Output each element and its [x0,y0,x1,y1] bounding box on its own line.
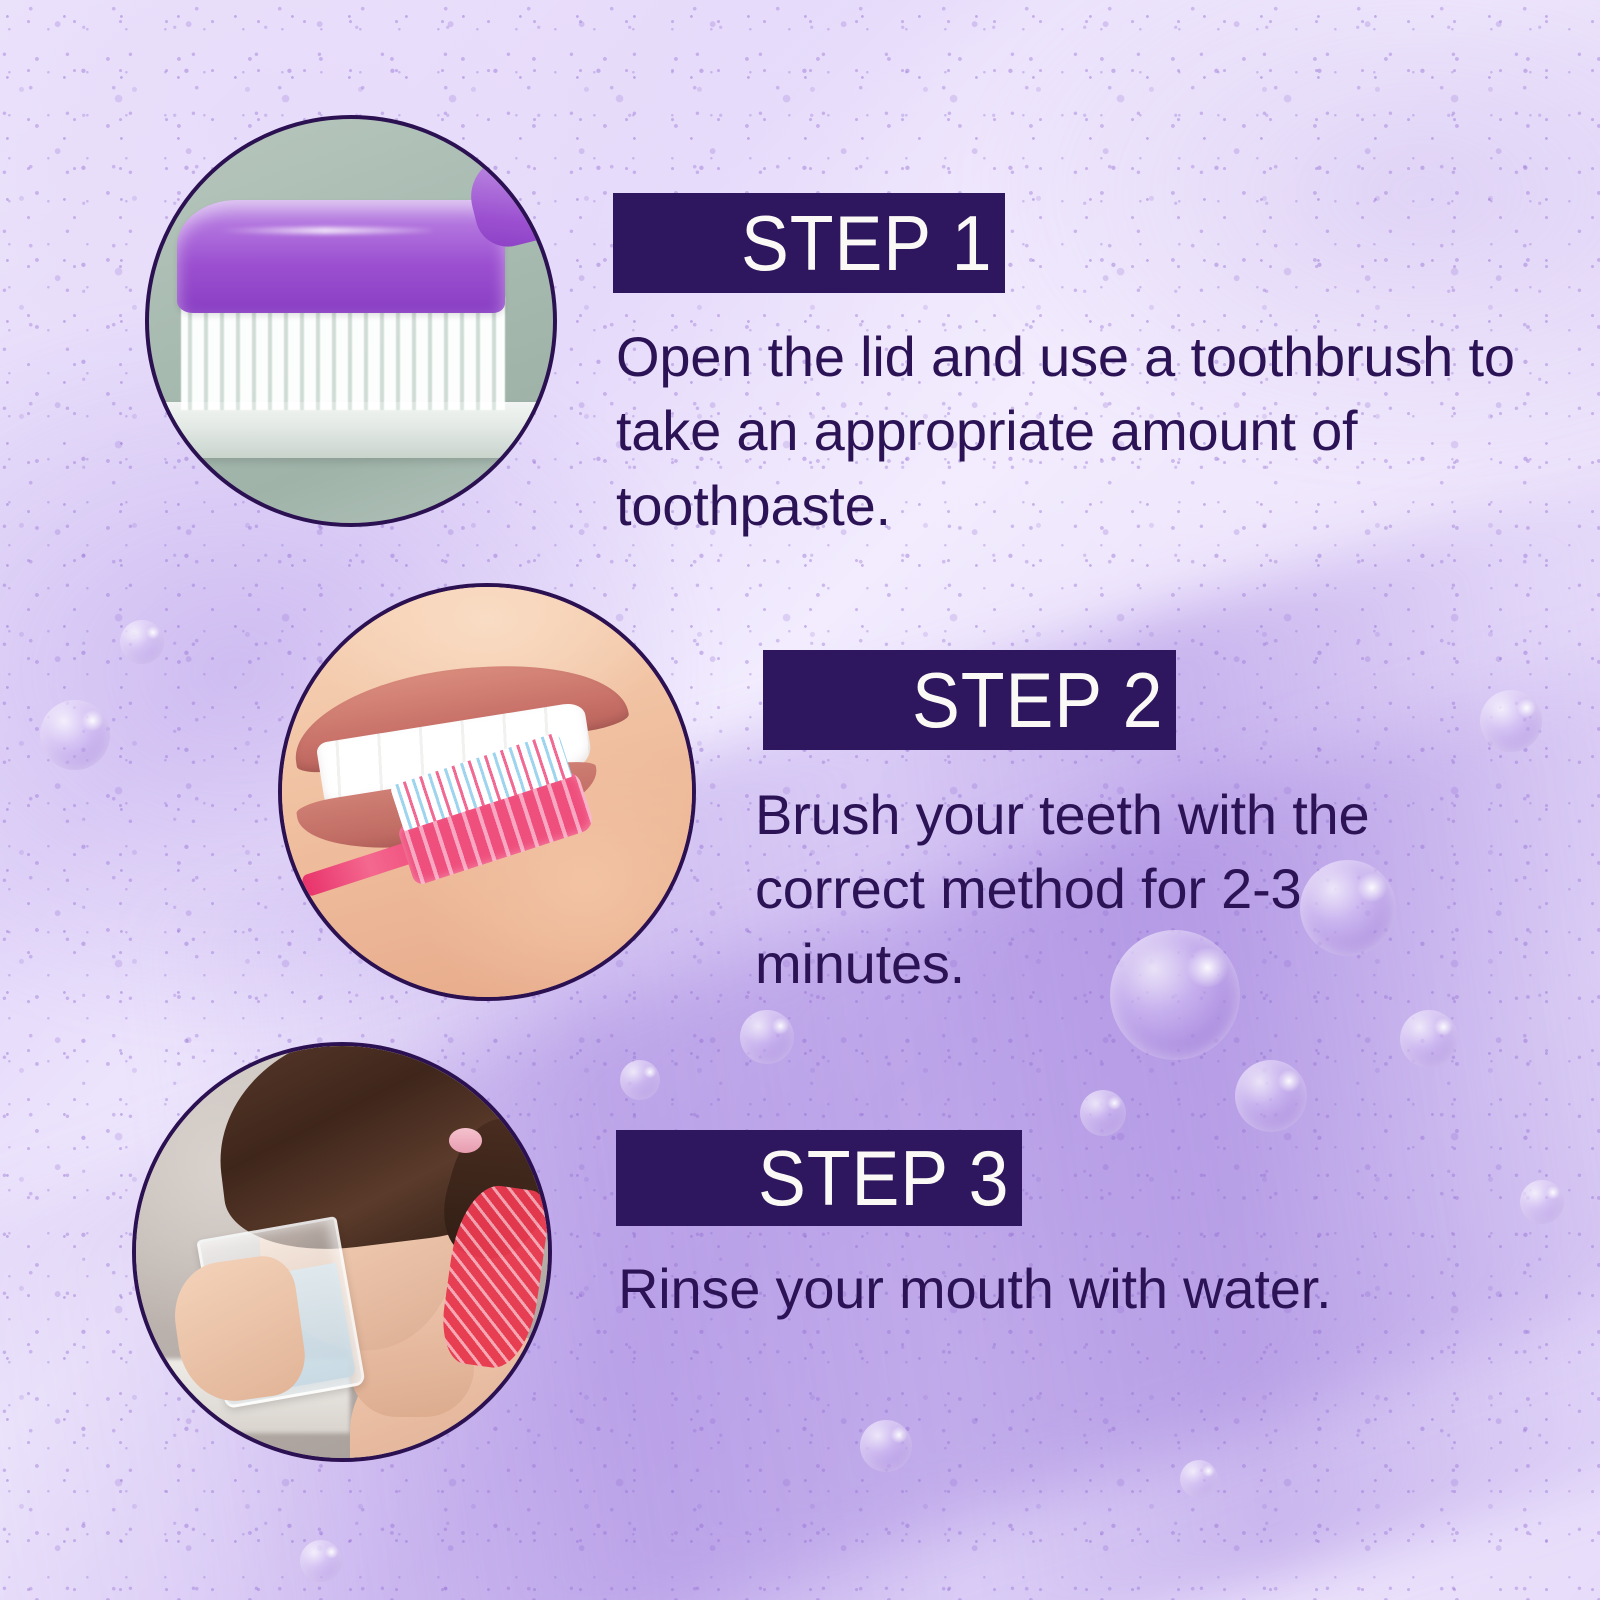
bubble-decoration [1520,1180,1564,1224]
step-1-description: Open the lid and use a toothbrush to tak… [616,320,1516,543]
step-2-photo-brushing-teeth [278,583,696,1001]
toothbrush-handle-shape [145,402,557,459]
bubble-decoration [860,1420,912,1472]
bubble-decoration [300,1540,342,1582]
bubble-decoration [620,1060,660,1100]
bubble-decoration [1480,690,1542,752]
step-3-badge-label: STEP 3 [758,1139,1022,1217]
bubble-decoration [120,620,164,664]
step-2-badge-label: STEP 2 [912,661,1176,739]
step-2-description: Brush your teeth with the correct method… [755,778,1455,1001]
bubble-decoration [740,1010,794,1064]
toothpaste-blob-shape [177,200,504,313]
bubble-decoration [1235,1060,1307,1132]
bubble-decoration [1180,1460,1218,1498]
bubble-decoration [1400,1010,1458,1068]
step-1-photo-toothbrush [145,115,557,527]
step-2-badge: STEP 2 [763,650,1176,750]
bubble-decoration [1080,1090,1126,1136]
toothbrush-bristles-shape [181,297,504,410]
step-1-badge-label: STEP 1 [741,204,1005,282]
infographic-canvas: STEP 1 Open the lid and use a toothbrush… [0,0,1600,1600]
step-3-badge: STEP 3 [616,1130,1022,1226]
bubble-decoration [40,700,110,770]
step-3-description: Rinse your mouth with water. [618,1252,1458,1326]
hair-tie-shape [449,1128,482,1153]
step-3-photo-drinking-water [132,1042,552,1462]
toothpaste-highlight [217,227,433,234]
step-1-badge: STEP 1 [613,193,1005,293]
